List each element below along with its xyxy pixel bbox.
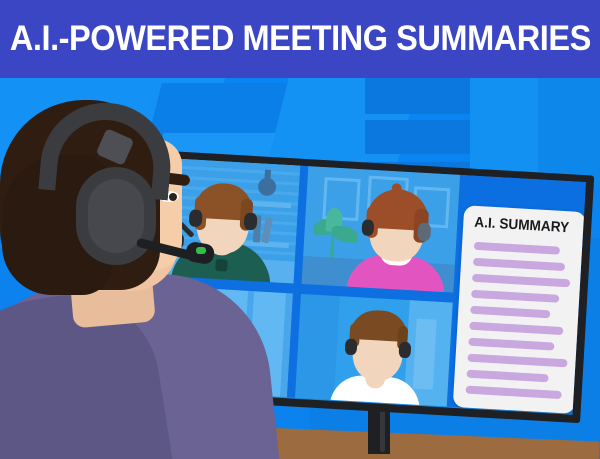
summary-line [473, 258, 565, 271]
summary-line [471, 290, 559, 303]
summary-line [474, 242, 560, 254]
summary-line [472, 274, 570, 287]
illustration-canvas: A.I. SUMMARY [0, 0, 600, 459]
summary-line [467, 354, 567, 367]
summary-line [469, 322, 563, 335]
participant-headset-ear2-top-right [417, 223, 431, 242]
participant-headset-ear-bottom-right [345, 339, 358, 356]
ai-summary-title: A.I. SUMMARY [474, 215, 570, 236]
person-pupil [169, 193, 177, 201]
foreground-person [0, 95, 250, 459]
participant-headset-ear2-bottom-right [398, 342, 411, 359]
video-tile-bottom-right[interactable] [294, 292, 455, 407]
ai-summary-card[interactable]: A.I. SUMMARY [453, 205, 586, 414]
vase-neck [264, 170, 271, 182]
participant-avatar-top-right [340, 178, 456, 294]
video-tile-top-right[interactable] [300, 166, 462, 295]
participant-avatar-bottom-right [322, 299, 432, 405]
summary-line [466, 386, 562, 399]
summary-line [468, 338, 554, 350]
summary-line [470, 306, 550, 318]
summary-line [466, 370, 548, 382]
participant-headset-ear-top-right [361, 219, 374, 236]
banner-title: A.I.-POWERED MEETING SUMMARIES [9, 19, 590, 59]
microphone-led-icon [196, 247, 206, 254]
header-banner: A.I.-POWERED MEETING SUMMARIES [0, 0, 600, 78]
